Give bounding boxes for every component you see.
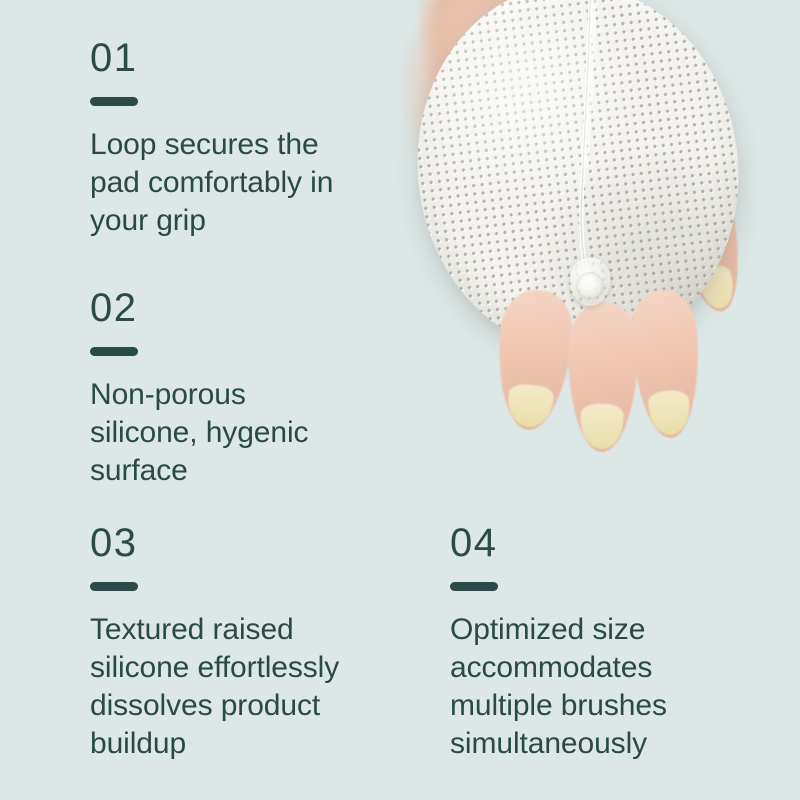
feature-text-01: Loop secures the pad comfortably in your… [90, 126, 410, 240]
feature-item-04: 04 Optimized size accommodates multiple … [450, 523, 780, 763]
feature-item-03: 03 Textured raised silicone effortlessly… [90, 523, 410, 763]
feature-text-04: Optimized size accommodates multiple bru… [450, 611, 780, 763]
silicone-loop-strand [576, 0, 602, 286]
feature-number-02: 02 [90, 288, 410, 328]
feature-item-01: 01 Loop secures the pad comfortably in y… [90, 38, 410, 240]
feature-divider-03 [90, 582, 138, 591]
feature-divider-01 [90, 97, 138, 106]
feature-divider-04 [450, 582, 498, 591]
feature-item-02: 02 Non-porous silicone, hygenic surface [90, 288, 410, 490]
feature-divider-02 [90, 347, 138, 356]
product-photo [380, 0, 800, 550]
feature-text-03: Textured raised silicone effortlessly di… [90, 611, 410, 763]
feature-number-03: 03 [90, 523, 410, 563]
hand-finger-ring [567, 301, 640, 452]
fingernail [506, 383, 554, 429]
feature-number-01: 01 [90, 38, 410, 78]
fingernail [580, 404, 624, 450]
feature-text-02: Non-porous silicone, hygenic surface [90, 376, 410, 490]
infographic-canvas: 01 Loop secures the pad comfortably in y… [0, 0, 800, 800]
feature-number-04: 04 [450, 523, 780, 563]
fingernail [647, 389, 691, 436]
